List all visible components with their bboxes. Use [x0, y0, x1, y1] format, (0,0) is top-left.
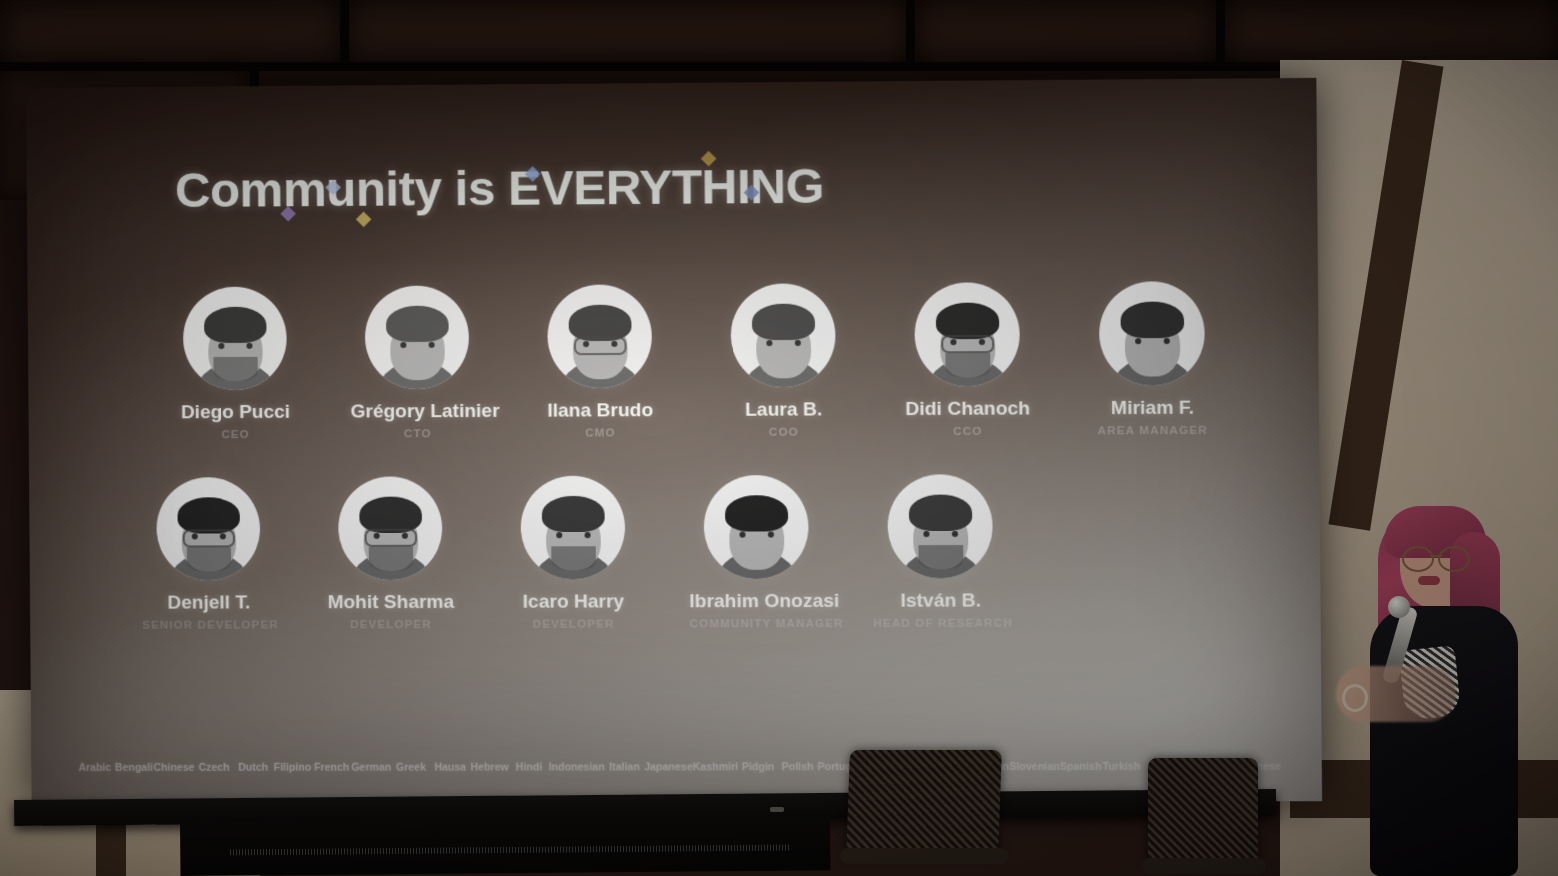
- presenter: [1318, 498, 1558, 876]
- presentation-slide: Community is EVERYTHING ArabicBengaliChi…: [26, 78, 1322, 802]
- team-member-role: SENIOR DEVELOPER: [142, 619, 276, 631]
- team-member-role: DEVELOPER: [324, 619, 458, 631]
- team-member: Miriam F.AREA MANAGER: [1084, 281, 1221, 437]
- microphone-icon: [1388, 596, 1410, 618]
- chart-x-tick-label: Filipino: [274, 762, 312, 774]
- chart-x-tick: French: [312, 758, 351, 784]
- team-member: Mohit SharmaDEVELOPER: [323, 476, 458, 631]
- team-member-avatar: [1099, 281, 1205, 386]
- team-member-avatar: [547, 284, 652, 388]
- team-member: István B.HEAD OF RESEARCH: [872, 474, 1009, 630]
- chart-x-tick-label: Chinese: [153, 762, 194, 774]
- team-member-role: CEO: [169, 429, 303, 442]
- chart-x-tick: Indonesian: [549, 757, 605, 783]
- chart-x-tick-label: German: [351, 762, 391, 774]
- chart-x-tick: Dutch: [234, 758, 273, 784]
- chart-x-tick: Hindi: [509, 757, 549, 783]
- team-row-1: Diego PucciCEOGrégory LatinierCTOIlana B…: [168, 281, 1221, 441]
- chart-x-tick: Czech: [194, 758, 233, 784]
- chart-x-tick: Kashmiri: [693, 757, 739, 783]
- chart-x-tick-label: Hausa: [434, 762, 466, 774]
- team-member-role: HEAD OF RESEARCH: [873, 618, 1009, 630]
- team-member: Icaro HarryDEVELOPER: [505, 476, 641, 631]
- chart-x-tick-label: Arabic: [78, 762, 111, 774]
- team-member-role: CTO: [351, 428, 485, 441]
- presenter-bracelet: [1342, 684, 1368, 712]
- chart-x-tick-label: Bengali: [115, 762, 153, 774]
- team-member-name: Grégory Latinier: [350, 401, 484, 424]
- chart-x-tick: Greek: [391, 758, 431, 784]
- chart-x-axis-labels: ArabicBengaliChineseCzechDutchFilipinoFr…: [75, 757, 1281, 784]
- team-member-avatar: [520, 476, 625, 580]
- slide-title: Community is EVERYTHING: [175, 158, 824, 219]
- team-member-role: DEVELOPER: [506, 618, 641, 630]
- conference-room-photo: Community is EVERYTHING ArabicBengaliChi…: [0, 0, 1558, 876]
- chair: [1148, 758, 1258, 866]
- team-member: Ibrahim OnozasiCOMMUNITY MANAGER: [688, 475, 824, 631]
- chart-x-tick-label: Slovenian: [1009, 761, 1060, 773]
- chart-x-tick-label: Greek: [396, 762, 426, 774]
- team-member-avatar: [338, 476, 443, 580]
- team-member-avatar: [156, 477, 260, 581]
- team-member-name: Miriam F.: [1084, 397, 1220, 420]
- chart-x-tick: German: [351, 758, 391, 784]
- projection-screen: Community is EVERYTHING ArabicBengaliChi…: [26, 78, 1322, 802]
- team-member: Laura B.COO: [715, 283, 851, 439]
- team-member: Diego PucciCEO: [168, 286, 303, 441]
- chart-x-tick: Chinese: [153, 758, 194, 784]
- chart-x-tick: Italian: [605, 757, 645, 783]
- presenter-glasses: [1402, 546, 1470, 568]
- team-member-name: István B.: [873, 590, 1009, 613]
- chart-x-tick: Filipino: [273, 758, 312, 784]
- team-member-name: Denjell T.: [142, 592, 276, 614]
- chart-x-tick: Arabic: [75, 758, 114, 784]
- team-member-role: AREA MANAGER: [1085, 425, 1221, 438]
- chair-arm: [840, 848, 1008, 864]
- team-member-role: CMO: [533, 427, 668, 440]
- team-member-name: Ibrahim Onozasi: [689, 591, 824, 614]
- chart-x-tick-label: Japanese: [644, 761, 693, 773]
- chart-x-tick-label: Turkish: [1102, 761, 1140, 773]
- team-member-avatar: [365, 285, 470, 389]
- chart-x-tick-label: Pidgin: [742, 761, 775, 773]
- chair-back: [846, 750, 1002, 858]
- team-member-name: Diego Pucci: [169, 402, 303, 425]
- team-member-avatar: [730, 283, 835, 387]
- chart-x-tick: Spanish: [1060, 757, 1102, 783]
- team-member-role: COO: [716, 426, 851, 439]
- chair: [848, 750, 1000, 858]
- chart-x-tick: Hebrew: [470, 757, 510, 783]
- chart-x-tick-label: Hebrew: [470, 762, 508, 774]
- team-member: Ilana BrudoCMO: [532, 284, 668, 440]
- team-member-name: Icaro Harry: [506, 591, 641, 613]
- team-member-role: CCO: [900, 426, 1036, 439]
- team-member-avatar: [887, 474, 993, 578]
- chart-x-tick-label: Italian: [609, 761, 640, 773]
- chart-x-tick-label: Hindi: [516, 761, 543, 773]
- chart-x-tick: Pidgin: [738, 757, 778, 783]
- chart-x-tick: Bengali: [114, 758, 153, 784]
- chair-arm: [1142, 858, 1266, 874]
- wall-seam: [1216, 0, 1225, 62]
- team-member-name: Mohit Sharma: [324, 592, 458, 614]
- team-member-name: Didi Chanoch: [900, 398, 1036, 421]
- chart-x-tick-label: Spanish: [1060, 761, 1102, 773]
- team-member-role: COMMUNITY MANAGER: [689, 618, 824, 630]
- team-member: Grégory LatinierCTO: [350, 285, 485, 440]
- team-row-2: Denjell T.SENIOR DEVELOPERMohit SharmaDE…: [141, 474, 1009, 632]
- chart-x-tick-label: Dutch: [238, 762, 268, 774]
- chart-x-tick-label: Polish: [782, 761, 814, 773]
- team-member-avatar: [704, 475, 809, 579]
- chart-x-tick-label: Indonesian: [549, 761, 605, 773]
- chart-x-tick: Turkish: [1101, 757, 1141, 783]
- team-member: Didi ChanochCCO: [899, 282, 1036, 438]
- wall-panel: [0, 0, 340, 62]
- wall-seam: [340, 0, 349, 62]
- chart-x-tick-label: Kashmiri: [693, 761, 739, 773]
- wall-panel: [348, 0, 908, 62]
- team-member-name: Ilana Brudo: [533, 400, 668, 423]
- chair-back: [1148, 758, 1258, 866]
- display-power-led: [770, 807, 784, 812]
- chart-x-tick: Polish: [778, 757, 818, 783]
- chart-x-tick-label: Czech: [198, 762, 229, 774]
- team-member-avatar: [183, 286, 287, 390]
- wall-seam: [906, 0, 915, 62]
- team-member-name: Laura B.: [716, 399, 851, 422]
- wall-panel: [916, 0, 1216, 62]
- team-member: Denjell T.SENIOR DEVELOPER: [141, 477, 276, 632]
- team-member-avatar: [914, 282, 1020, 387]
- presenter-mouth: [1418, 576, 1440, 585]
- wall-panel: [1224, 0, 1558, 62]
- chart-x-tick-label: French: [314, 762, 349, 774]
- chart-x-tick: Japanese: [644, 757, 693, 783]
- chart-x-tick: Slovenian: [1009, 757, 1060, 783]
- chart-x-tick: Hausa: [430, 758, 470, 784]
